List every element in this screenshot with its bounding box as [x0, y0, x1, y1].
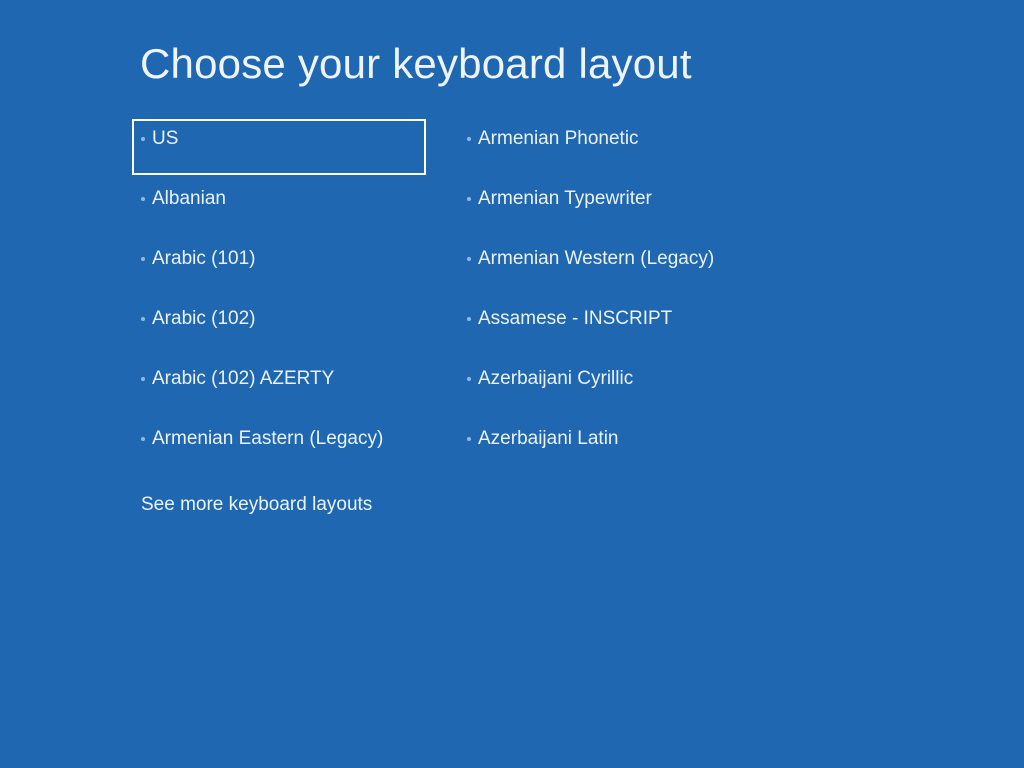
bullet-icon	[141, 197, 152, 201]
keyboard-layout-option[interactable]: Arabic (102)	[132, 299, 426, 359]
bullet-icon	[141, 437, 152, 441]
keyboard-layout-option[interactable]: Assamese - INSCRIPT	[458, 299, 788, 359]
keyboard-layout-option[interactable]: Armenian Western (Legacy)	[458, 239, 788, 299]
keyboard-layout-option-label: Azerbaijani Latin	[478, 428, 618, 450]
bullet-icon	[141, 317, 152, 321]
keyboard-layout-option[interactable]: Albanian	[132, 179, 426, 239]
keyboard-layout-option[interactable]: Azerbaijani Cyrillic	[458, 359, 788, 419]
keyboard-layout-option-label: Arabic (101)	[152, 248, 256, 270]
bullet-icon	[467, 377, 478, 381]
keyboard-layout-option[interactable]: Arabic (102) AZERTY	[132, 359, 426, 419]
keyboard-layout-option-label: US	[152, 128, 178, 150]
keyboard-layout-option-label: Armenian Typewriter	[478, 188, 652, 210]
keyboard-layout-option[interactable]: Armenian Typewriter	[458, 179, 788, 239]
keyboard-layout-option-label: Arabic (102) AZERTY	[152, 368, 334, 390]
keyboard-layout-option-label: Armenian Phonetic	[478, 128, 639, 150]
keyboard-layout-option-label: Albanian	[152, 188, 226, 210]
keyboard-layout-option[interactable]: Azerbaijani Latin	[458, 419, 788, 479]
keyboard-layout-screen: Choose your keyboard layout USAlbanianAr…	[0, 0, 1024, 768]
bullet-icon	[141, 257, 152, 261]
keyboard-layout-option-label: Assamese - INSCRIPT	[478, 308, 672, 330]
see-more-keyboard-layouts-link[interactable]: See more keyboard layouts	[141, 493, 372, 517]
keyboard-layout-option-label: Azerbaijani Cyrillic	[478, 368, 633, 390]
bullet-icon	[141, 137, 152, 141]
keyboard-layout-list-left: USAlbanianArabic (101)Arabic (102)Arabic…	[132, 119, 426, 479]
bullet-icon	[467, 257, 478, 261]
bullet-icon	[467, 317, 478, 321]
bullet-icon	[467, 197, 478, 201]
keyboard-layout-option-label: Armenian Western (Legacy)	[478, 248, 714, 270]
keyboard-layout-option-label: Armenian Eastern (Legacy)	[152, 428, 383, 450]
bullet-icon	[467, 137, 478, 141]
keyboard-layout-list-right: Armenian PhoneticArmenian TypewriterArme…	[458, 119, 788, 479]
bullet-icon	[467, 437, 478, 441]
page-title: Choose your keyboard layout	[140, 38, 692, 90]
keyboard-layout-option[interactable]: Armenian Eastern (Legacy)	[132, 419, 426, 479]
keyboard-layout-option[interactable]: US	[132, 119, 426, 175]
bullet-icon	[141, 377, 152, 381]
keyboard-layout-option[interactable]: Arabic (101)	[132, 239, 426, 299]
keyboard-layout-option[interactable]: Armenian Phonetic	[458, 119, 788, 179]
keyboard-layout-option-label: Arabic (102)	[152, 308, 256, 330]
